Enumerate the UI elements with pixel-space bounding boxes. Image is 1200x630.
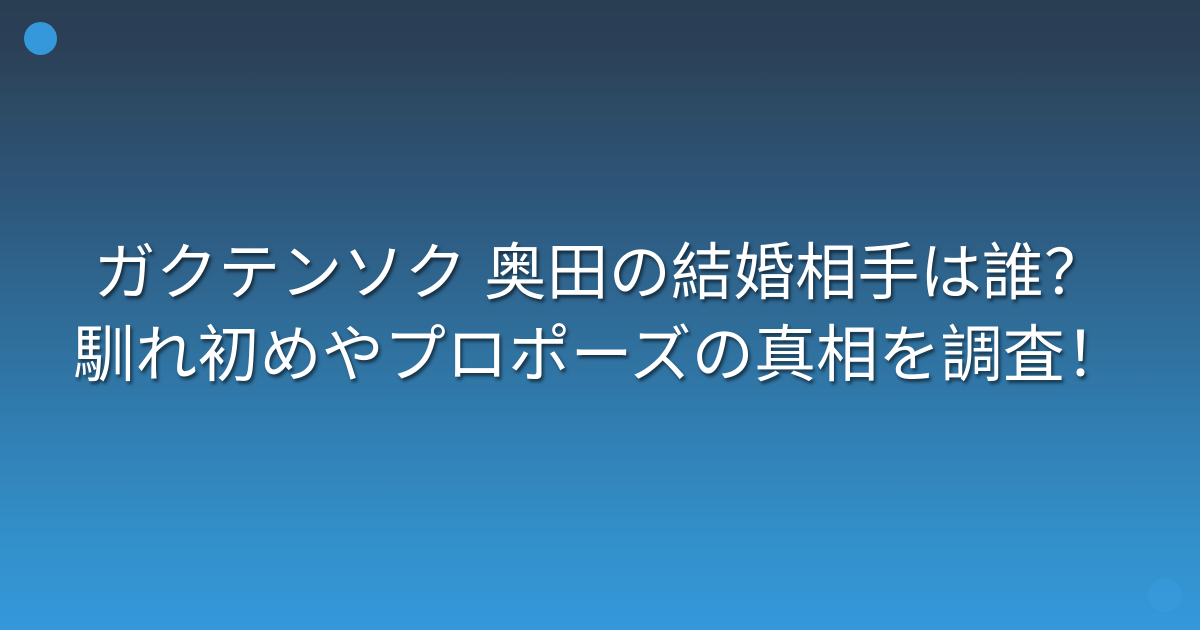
page-title: ガクテンソク 奥田の結婚相手は誰？馴れ初めやプロポーズの真相を調査！ [70,233,1130,397]
title-container: ガクテンソク 奥田の結婚相手は誰？馴れ初めやプロポーズの真相を調査！ [0,0,1200,630]
og-image-card: ガクテンソク 奥田の結婚相手は誰？馴れ初めやプロポーズの真相を調査！ [0,0,1200,630]
